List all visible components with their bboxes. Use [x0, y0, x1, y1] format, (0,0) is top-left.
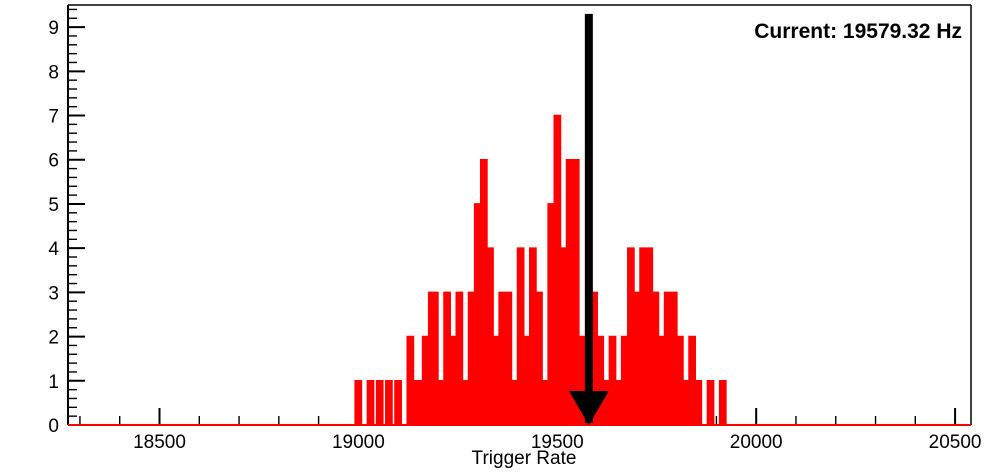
root-canvas: 0123456789 1850019000195002000020500 Tri…	[0, 0, 996, 472]
y-tick-label: 9	[48, 18, 59, 39]
histogram-plot[interactable]: 0123456789 1850019000195002000020500 Tri…	[0, 0, 996, 472]
y-tick-label: 7	[48, 107, 59, 128]
y-tick-label: 6	[48, 151, 59, 172]
y-tick-label: 4	[48, 239, 59, 260]
y-tick-label: 1	[48, 372, 59, 393]
x-axis-title: Trigger Rate	[472, 448, 577, 469]
y-tick-label: 2	[48, 328, 59, 349]
x-tick-label: 18500	[133, 432, 186, 453]
y-tick-label: 3	[48, 283, 59, 304]
x-tick-label: 20500	[929, 432, 982, 453]
y-tick-label: 8	[48, 62, 59, 83]
y-tick-label: 0	[48, 416, 59, 437]
x-tick-label: 20000	[730, 432, 783, 453]
current-rate-readout: Current: 19579.32 Hz	[754, 20, 962, 43]
y-tick-label: 5	[48, 195, 59, 216]
x-tick-label: 19000	[332, 432, 385, 453]
